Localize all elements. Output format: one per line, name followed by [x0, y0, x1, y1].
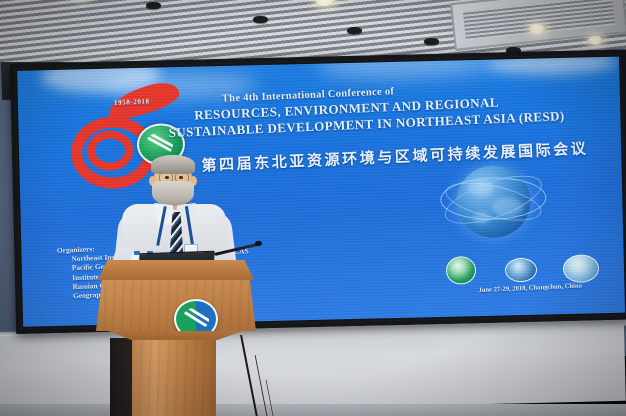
- speaker-beard: [152, 181, 194, 206]
- ceiling-downlight-icon: [588, 36, 603, 45]
- lower-wall: [0, 321, 626, 416]
- logo-anniversary-years: 1958-2018: [114, 97, 150, 106]
- globe-icon: [439, 154, 545, 252]
- ceiling-spotlight-icon: [424, 38, 439, 45]
- footer-logo-gsc: [563, 254, 600, 283]
- speaker-hair: [151, 155, 195, 174]
- microphone-head: [255, 241, 262, 246]
- cable: [240, 335, 258, 416]
- podium: [96, 260, 256, 416]
- footer-logo-iga-cas: [446, 256, 477, 285]
- ceiling-spotlight-icon: [347, 27, 362, 34]
- ceiling-spotlight-icon: [253, 16, 268, 23]
- footer-logo-rgs: [505, 258, 538, 283]
- ceiling-spotlight-icon: [146, 2, 161, 9]
- slide-footer-date: June 27-29, 2018, Changchun, China: [478, 283, 582, 295]
- ceiling-downlight-icon: [529, 24, 546, 34]
- floor-strip: [0, 404, 626, 416]
- photo-scene: 1958-2018 The 4th International Conferen…: [0, 0, 626, 416]
